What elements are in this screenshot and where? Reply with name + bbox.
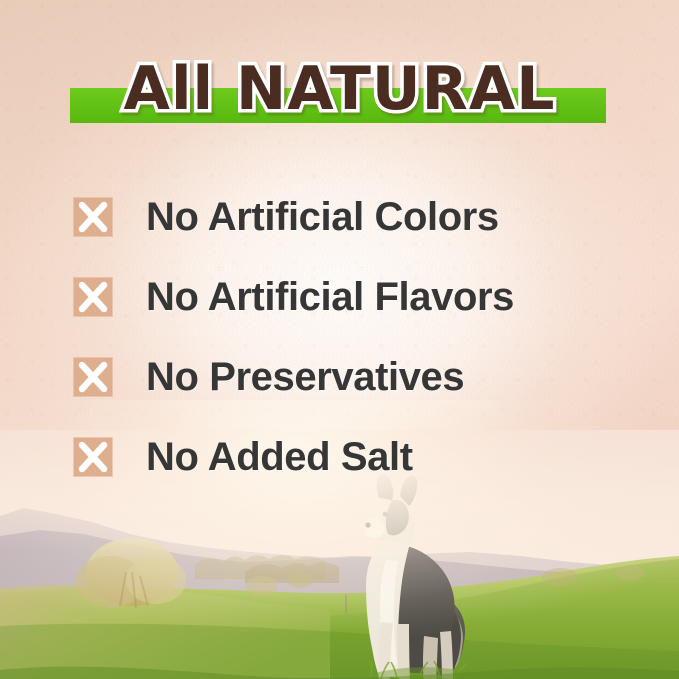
claims-list: No Artificial Colors No Artificial Flavo…: [74, 177, 634, 497]
list-item: No Artificial Colors: [74, 177, 634, 257]
page-title: All NATURAL: [0, 52, 679, 126]
claim-label: No Preservatives: [146, 357, 464, 397]
title-block: All NATURAL: [0, 52, 679, 132]
list-item: No Added Salt: [74, 417, 634, 497]
claim-label: No Artificial Flavors: [146, 277, 514, 317]
x-mark-icon: [74, 438, 112, 476]
x-mark-icon: [74, 278, 112, 316]
claim-label: No Added Salt: [146, 437, 413, 477]
list-item: No Preservatives: [74, 337, 634, 417]
claim-label: No Artificial Colors: [146, 197, 499, 237]
list-item: No Artificial Flavors: [74, 257, 634, 337]
x-mark-icon: [74, 358, 112, 396]
all-natural-poster: All NATURAL No Artificial Colors No Arti…: [0, 0, 679, 679]
x-mark-icon: [74, 198, 112, 236]
